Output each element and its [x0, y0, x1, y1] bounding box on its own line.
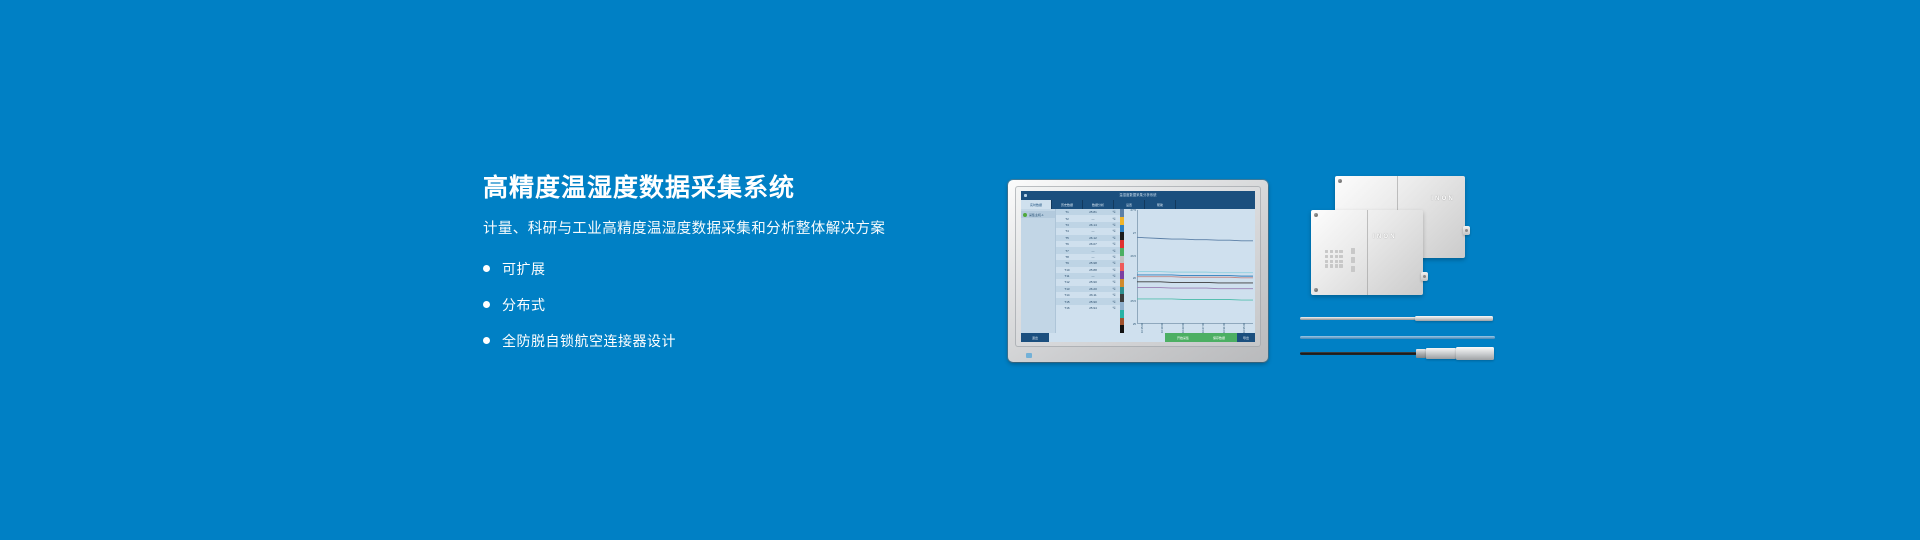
product-image-panel-monitor: 温湿度数据采集分析系统 实时数据 历史数据 数据分析 设置 帮助 采集主机-1 — [1008, 180, 1268, 362]
device-tree-item-host-1[interactable]: 采集主机-1 — [1021, 211, 1055, 218]
cell-unit: ℃ — [1108, 300, 1120, 304]
cell-unit: ℃ — [1108, 280, 1120, 284]
cell-value: 25.90 — [1078, 300, 1108, 304]
chart-x-tick-labels: 10:15:0010:19:0010:23:0010:27:0010:31:00… — [1137, 324, 1253, 333]
device-tree-label: 采集主机-1 — [1029, 213, 1044, 217]
footer-spacer — [1049, 333, 1165, 342]
cell-value: --- — [1078, 255, 1108, 259]
module-connector-port — [1463, 226, 1470, 235]
chart-y-tick: 25 — [1133, 322, 1136, 326]
chart-line-T3 — [1137, 272, 1253, 273]
exit-button[interactable]: 退出 — [1021, 333, 1049, 342]
cell-unit: ℃ — [1108, 255, 1120, 259]
bullet-dot-icon — [483, 265, 490, 272]
table-row[interactable]: T16 25.94 ℃ — [1056, 305, 1120, 311]
chart-line-T5 — [1137, 275, 1253, 276]
cell-value: 26.11 — [1078, 293, 1108, 297]
status-online-icon — [1023, 213, 1027, 217]
cell-channel: T1 — [1056, 210, 1078, 214]
feature-list: 可扩展 分布式 全防脱自锁航空连接器设计 — [483, 259, 903, 351]
module-brand-label: INON — [1431, 196, 1455, 202]
screw-icon — [1314, 288, 1318, 292]
feature-item-2: 全防脱自锁航空连接器设计 — [483, 331, 903, 351]
cell-value: 25.94 — [1078, 306, 1108, 310]
app-body: 采集主机-1 T1 25.81 ℃ T2 --- ℃ — [1021, 209, 1255, 333]
cell-value: 25.98 — [1078, 261, 1108, 265]
cell-value: 26.07 — [1078, 242, 1108, 246]
chart-x-tick: 10:23:00 — [1182, 323, 1185, 333]
screw-icon — [1338, 179, 1342, 183]
chart-x-tick: 10:27:00 — [1202, 323, 1205, 333]
cell-unit: ℃ — [1108, 210, 1120, 214]
chart-y-tick: 25.5 — [1131, 299, 1136, 303]
cell-value: --- — [1078, 249, 1108, 253]
cell-unit: ℃ — [1108, 268, 1120, 272]
cell-unit: ℃ — [1108, 306, 1120, 310]
chart-x-tick: 10:31:00 — [1223, 323, 1226, 333]
chart-y-tick: 26.5 — [1131, 254, 1136, 258]
cell-unit: ℃ — [1108, 242, 1120, 246]
module-panel-seam — [1367, 210, 1368, 295]
start-acquisition-button[interactable]: 开始采集 — [1165, 333, 1201, 342]
cell-channel: T4 — [1056, 229, 1078, 233]
cell-unit: ℃ — [1108, 249, 1120, 253]
monitor-indicator-led — [1026, 353, 1032, 358]
chart-y-tick: 26 — [1133, 276, 1136, 280]
feature-item-0: 可扩展 — [483, 259, 903, 279]
chart-line-T6 — [1137, 277, 1253, 278]
save-data-button[interactable]: 保存数据 — [1201, 333, 1237, 342]
banner-copy-block: 高精度温湿度数据采集系统 计量、科研与工业高精度温湿度数据采集和分析整体解决方案… — [483, 174, 903, 367]
cell-channel: T14 — [1056, 293, 1078, 297]
app-footer-toolbar: 退出 开始采集 保存数据 导出 — [1021, 333, 1255, 342]
page-subtitle: 计量、科研与工业高精度温湿度数据采集和分析整体解决方案 — [483, 220, 903, 239]
cell-value: --- — [1078, 217, 1108, 221]
feature-label-0: 可扩展 — [502, 259, 546, 279]
module-front-unit: INON — [1311, 210, 1423, 295]
cell-value: 26.12 — [1078, 236, 1108, 240]
product-image-acquisition-modules: INON INON — [1307, 172, 1497, 297]
cell-channel: T13 — [1056, 287, 1078, 291]
chart-series-svg — [1137, 210, 1253, 324]
cell-unit: ℃ — [1108, 274, 1120, 278]
tab-help[interactable]: 帮助 — [1145, 200, 1176, 209]
chart-x-tick: 10:19:00 — [1161, 323, 1164, 333]
cell-channel: T11 — [1056, 274, 1078, 278]
app-title-bar: 温湿度数据采集分析系统 — [1021, 191, 1255, 200]
terminal-block-grid — [1325, 250, 1343, 268]
app-window-title: 温湿度数据采集分析系统 — [1021, 191, 1255, 200]
tab-settings[interactable]: 设置 — [1114, 200, 1145, 209]
cell-channel: T2 — [1056, 217, 1078, 221]
app-tab-bar: 实时数据 历史数据 数据分析 设置 帮助 — [1021, 200, 1255, 209]
chart-line-T1 — [1137, 237, 1253, 240]
cell-unit: ℃ — [1108, 293, 1120, 297]
monitor-bezel: 温湿度数据采集分析系统 实时数据 历史数据 数据分析 设置 帮助 采集主机-1 — [1015, 186, 1261, 347]
cell-unit: ℃ — [1108, 236, 1120, 240]
terminal-block-column — [1351, 248, 1355, 272]
cell-unit: ℃ — [1108, 261, 1120, 265]
cell-channel: T6 — [1056, 242, 1078, 246]
chart-x-tick: 10:15:00 — [1141, 323, 1144, 333]
monitor-screen: 温湿度数据采集分析系统 实时数据 历史数据 数据分析 设置 帮助 采集主机-1 — [1021, 191, 1255, 342]
product-banner: 高精度温湿度数据采集系统 计量、科研与工业高精度温湿度数据采集和分析整体解决方案… — [0, 0, 1920, 540]
realtime-trend-chart: 27.52726.52625.525 10:15:0010:19:0010:23… — [1124, 209, 1255, 333]
cell-value: 25.88 — [1078, 268, 1108, 272]
module-connector-port — [1421, 272, 1428, 281]
cell-unit: ℃ — [1108, 217, 1120, 221]
cell-channel: T5 — [1056, 236, 1078, 240]
tab-data-analysis[interactable]: 数据分析 — [1083, 200, 1114, 209]
cell-channel: T10 — [1056, 268, 1078, 272]
cell-channel: T8 — [1056, 255, 1078, 259]
cell-value: 26.20 — [1078, 287, 1108, 291]
chart-y-axis: 27.52726.52625.525 — [1124, 210, 1138, 324]
tab-realtime-data[interactable]: 实时数据 — [1021, 200, 1052, 209]
page-title: 高精度温湿度数据采集系统 — [483, 174, 903, 203]
cell-channel: T15 — [1056, 300, 1078, 304]
cell-value: 26.14 — [1078, 223, 1108, 227]
feature-item-1: 分布式 — [483, 295, 903, 315]
export-button[interactable]: 导出 — [1237, 333, 1255, 342]
tab-history-data[interactable]: 历史数据 — [1052, 200, 1083, 209]
feature-label-2: 全防脱自锁航空连接器设计 — [502, 331, 676, 351]
screw-icon — [1314, 213, 1318, 217]
feature-label-1: 分布式 — [502, 295, 546, 315]
cell-channel: T16 — [1056, 306, 1078, 310]
cell-unit: ℃ — [1108, 287, 1120, 291]
device-tree-panel: 采集主机-1 — [1021, 209, 1056, 333]
chart-line-T9 — [1137, 282, 1253, 283]
module-brand-label: INON — [1373, 234, 1397, 240]
cell-value: 25.81 — [1078, 210, 1108, 214]
cell-unit: ℃ — [1108, 223, 1120, 227]
cell-value: --- — [1078, 274, 1108, 278]
chart-y-tick: 27 — [1133, 231, 1136, 235]
cell-channel: T9 — [1056, 261, 1078, 265]
chart-x-tick: 10:35:00 — [1243, 323, 1246, 333]
chart-line-T10 — [1137, 288, 1253, 289]
cell-channel: T3 — [1056, 223, 1078, 227]
cell-channel: T7 — [1056, 249, 1078, 253]
bullet-dot-icon — [483, 301, 490, 308]
chart-y-tick: 27.5 — [1131, 208, 1136, 212]
cell-value: --- — [1078, 229, 1108, 233]
tab-bar-filler — [1176, 200, 1255, 209]
bullet-dot-icon — [483, 337, 490, 344]
channel-value-table: T1 25.81 ℃ T2 --- ℃ T3 26.14 ℃ — [1056, 209, 1120, 333]
cell-unit: ℃ — [1108, 229, 1120, 233]
chart-plot-area — [1137, 210, 1253, 324]
chart-line-T13 — [1137, 299, 1253, 300]
product-image-sensor-probes — [1300, 310, 1500, 362]
cell-value: 25.90 — [1078, 280, 1108, 284]
cell-channel: T12 — [1056, 280, 1078, 284]
